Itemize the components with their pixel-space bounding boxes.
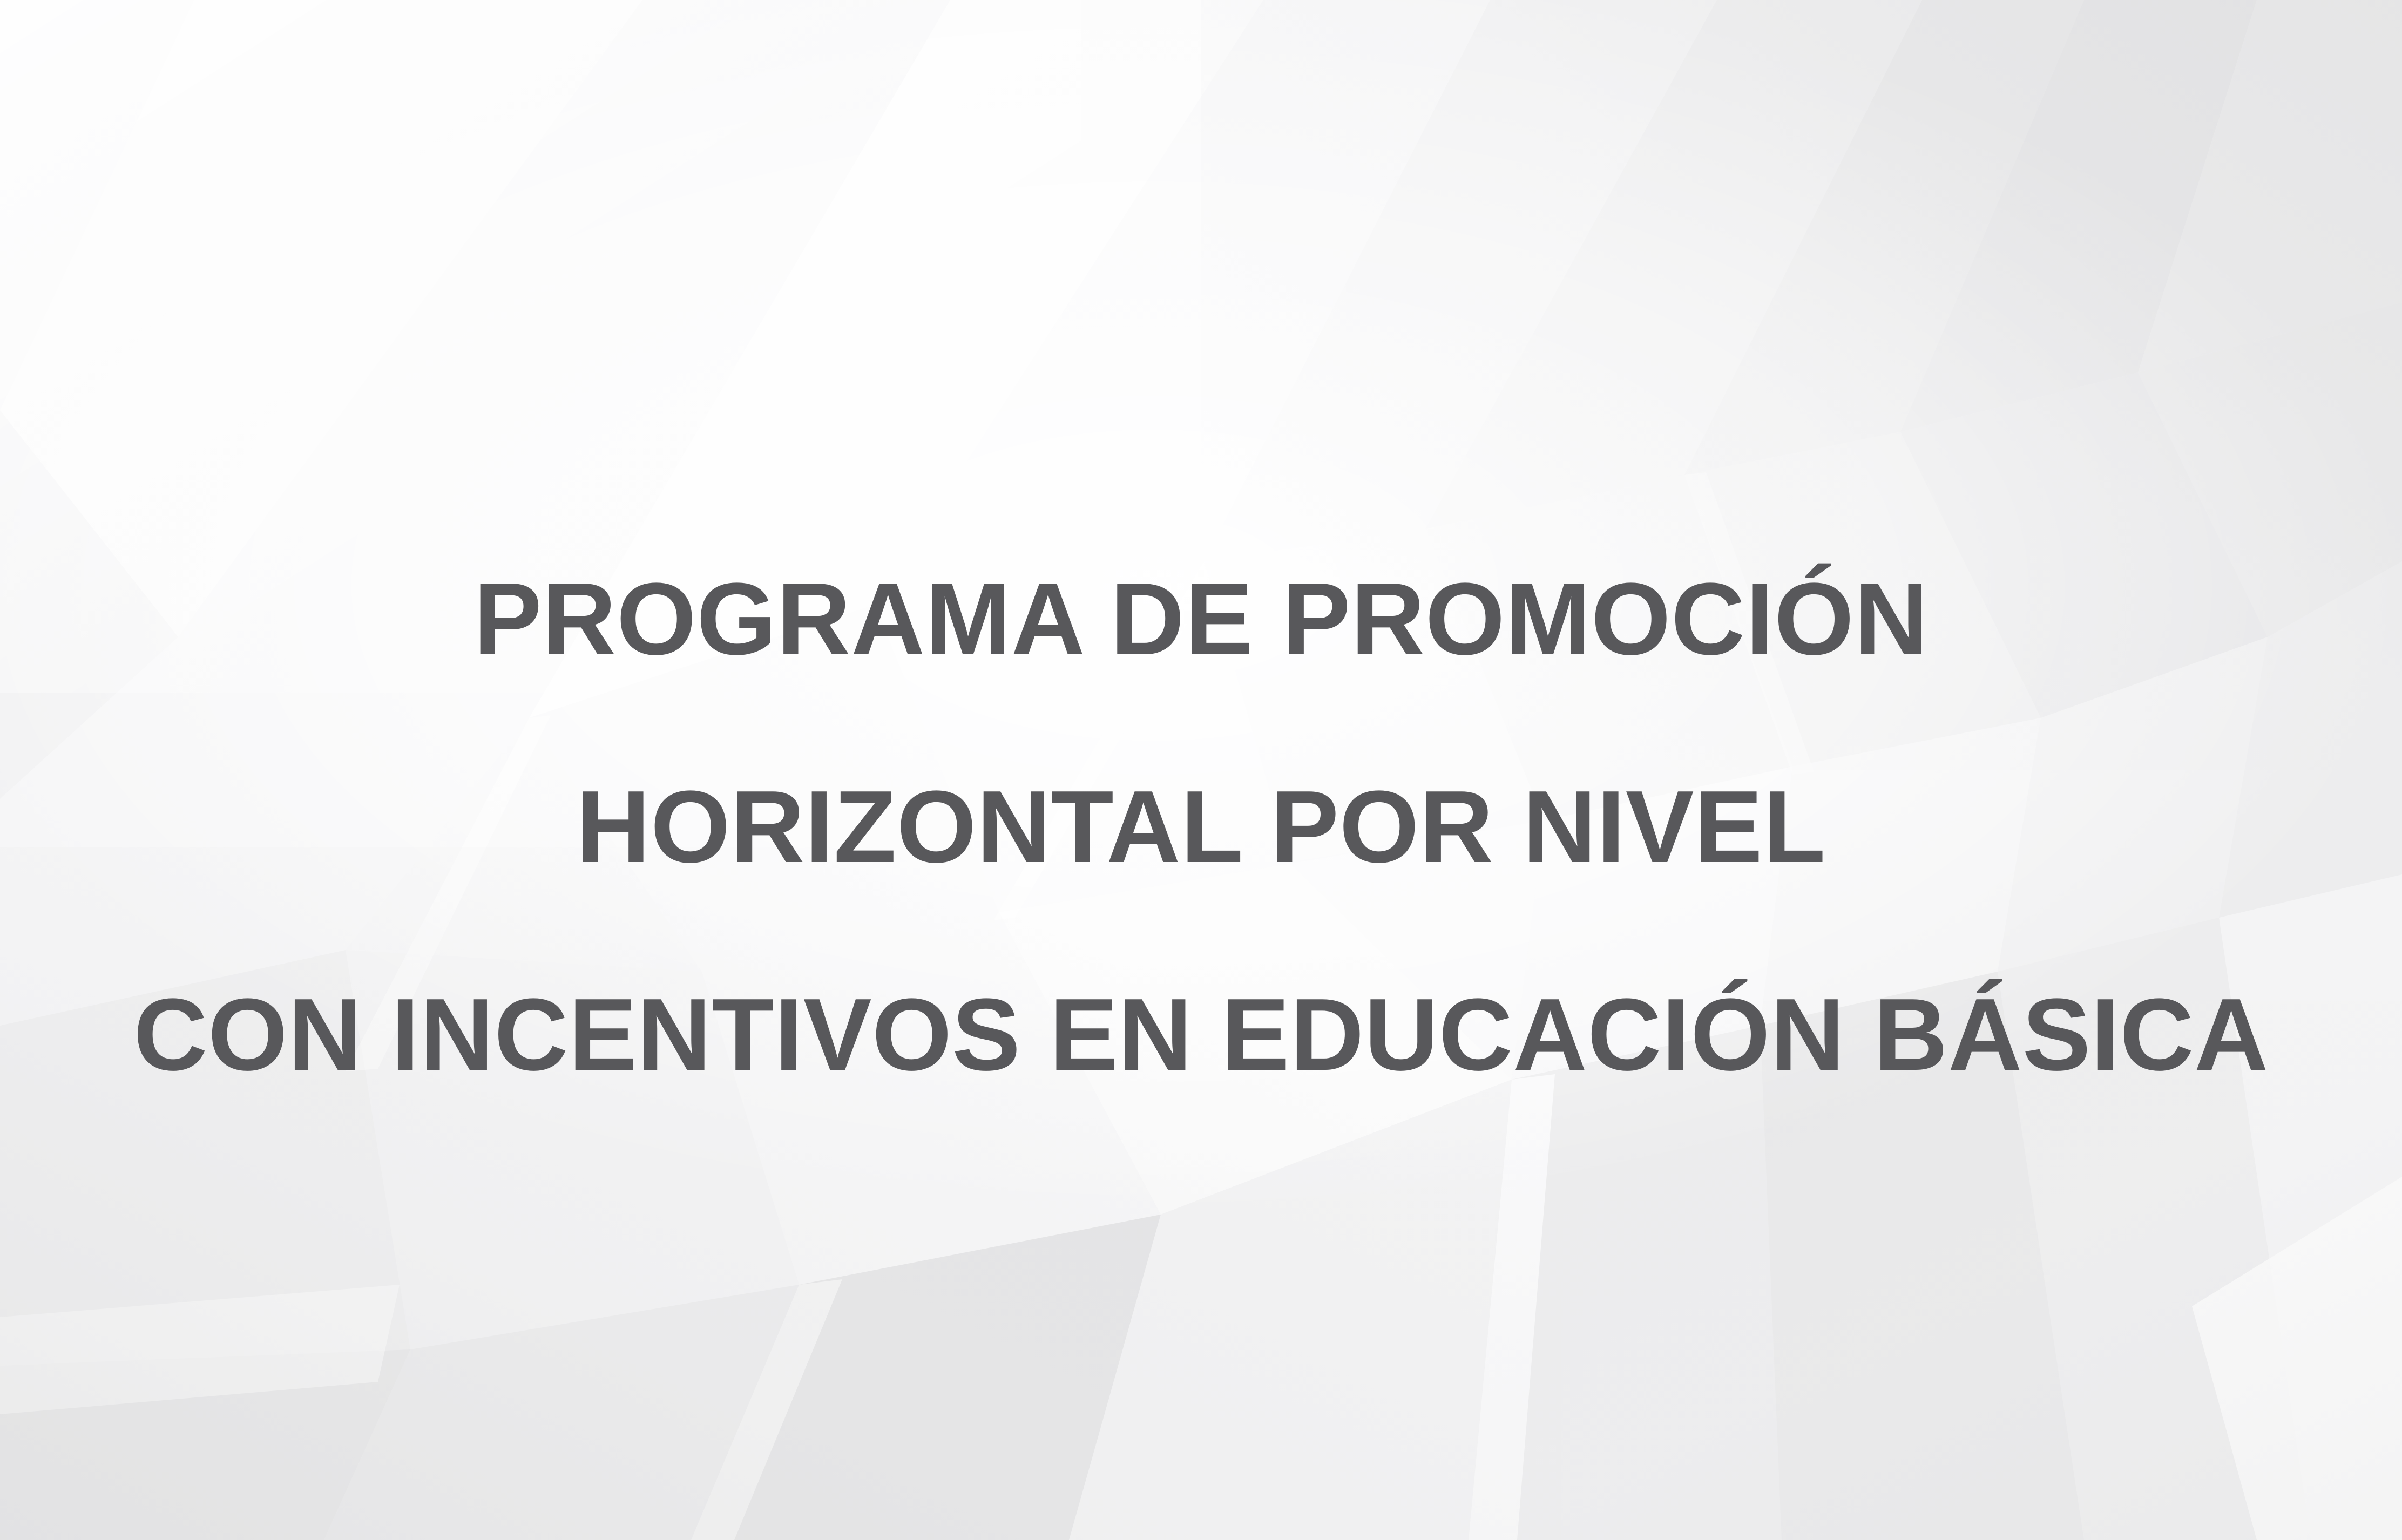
slide-title-line-3: CON INCENTIVOS EN EDUCACIÓN BÁSICA: [0, 931, 2402, 1139]
slide-title-line-2: HORIZONTAL POR NIVEL: [0, 723, 2402, 931]
presentation-slide: PROGRAMA DE PROMOCIÓN HORIZONTAL POR NIV…: [0, 0, 2402, 1540]
slide-title-line-1: PROGRAMA DE PROMOCIÓN: [0, 515, 2402, 723]
slide-title-block: PROGRAMA DE PROMOCIÓN HORIZONTAL POR NIV…: [0, 515, 2402, 1139]
